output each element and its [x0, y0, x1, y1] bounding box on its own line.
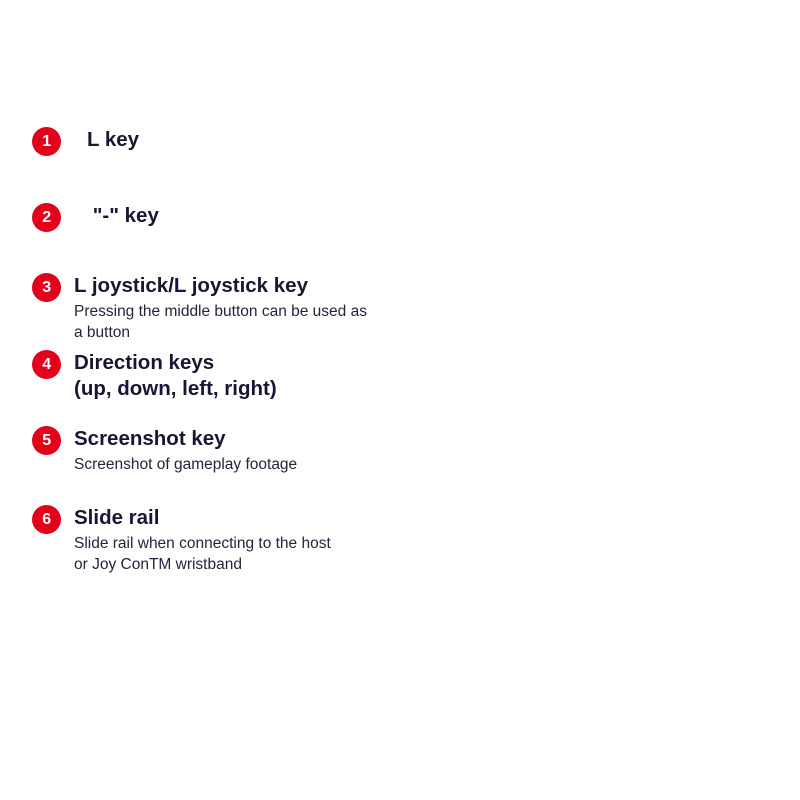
legend-item-4-body: Direction keys (up, down, left, right): [74, 350, 444, 402]
legend-item-5-body: Screenshot key Screenshot of gameplay fo…: [74, 426, 444, 475]
number-badge-3: 3: [32, 273, 61, 302]
legend-item-6-title: Slide rail: [74, 505, 444, 531]
legend-item-5-title: Screenshot key: [74, 426, 444, 452]
legend-item-3-description: Pressing the middle button can be used a…: [74, 301, 444, 343]
number-badge-1: 1: [32, 127, 61, 156]
legend-item-2-title: "-" key: [87, 203, 457, 229]
number-badge-5: 5: [32, 426, 61, 455]
legend-item-5-description: Screenshot of gameplay footage: [74, 454, 444, 475]
legend-item-3-title: L joystick/L joystick key: [74, 273, 444, 299]
legend-item-6-description: Slide rail when connecting to the host o…: [74, 533, 444, 575]
legend-item-2-body: "-" key: [87, 203, 457, 229]
number-badge-4: 4: [32, 350, 61, 379]
number-badge-6: 6: [32, 505, 61, 534]
legend-item-1-title: L key: [87, 127, 457, 153]
legend-item-4-title: Direction keys (up, down, left, right): [74, 350, 444, 402]
legend-sheet: 1 L key 2 "-" key 3 L joystick/L joystic…: [0, 0, 800, 800]
number-badge-2: 2: [32, 203, 61, 232]
legend-item-6-body: Slide rail Slide rail when connecting to…: [74, 505, 444, 575]
legend-item-3-body: L joystick/L joystick key Pressing the m…: [74, 273, 444, 343]
legend-item-1-body: L key: [87, 127, 457, 153]
